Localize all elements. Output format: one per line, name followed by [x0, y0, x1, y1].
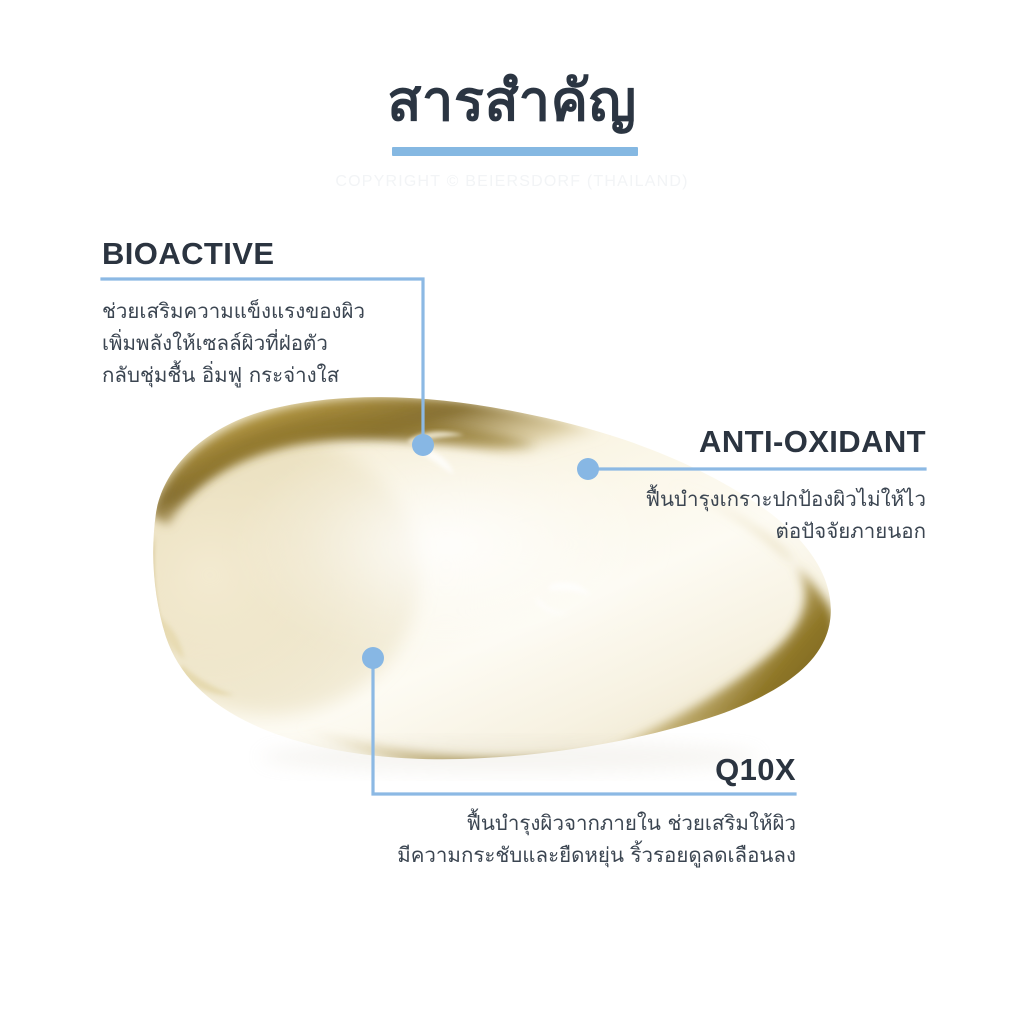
- copyright-watermark: COPYRIGHT © BEIERSDORF (THAILAND): [0, 173, 1024, 191]
- callout-body-line: เพิ่มพลังให้เซลล์ผิวที่ฝ่อตัว: [102, 328, 365, 360]
- callout-body-q10x: ฟื้นบำรุงผิวจากภายใน ช่วยเสริมให้ผิว มีค…: [397, 808, 796, 872]
- infographic-canvas: สารสำคัญ COPYRIGHT © BEIERSDORF (THAILAN…: [0, 0, 1024, 1024]
- callout-body-line: ต่อปัจจัยภายนอก: [646, 516, 926, 548]
- callout-body-anti-oxidant: ฟื้นบำรุงเกราะปกป้องผิวไม่ให้ไว ต่อปัจจั…: [646, 484, 926, 548]
- callout-heading-anti-oxidant: ANTI-OXIDANT: [699, 424, 926, 460]
- callout-body-bioactive: ช่วยเสริมความแข็งแรงของผิว เพิ่มพลังให้เ…: [102, 296, 365, 392]
- callout-body-line: ฟื้นบำรุงเกราะปกป้องผิวไม่ให้ไว: [646, 484, 926, 516]
- callout-heading-bioactive: BIOACTIVE: [102, 236, 274, 272]
- title-underline-rule: [392, 147, 638, 156]
- callout-body-line: มีความกระชับและยืดหยุ่น ริ้วรอยดูลดเลือน…: [397, 840, 796, 872]
- callout-body-line: ช่วยเสริมความแข็งแรงของผิว: [102, 296, 365, 328]
- callout-body-line: ฟื้นบำรุงผิวจากภายใน ช่วยเสริมให้ผิว: [397, 808, 796, 840]
- callout-heading-q10x: Q10X: [715, 752, 796, 788]
- callout-body-line: กลับชุ่มชื้น อิ่มฟู กระจ่างใส: [102, 360, 365, 392]
- page-title: สารสำคัญ: [0, 72, 1024, 131]
